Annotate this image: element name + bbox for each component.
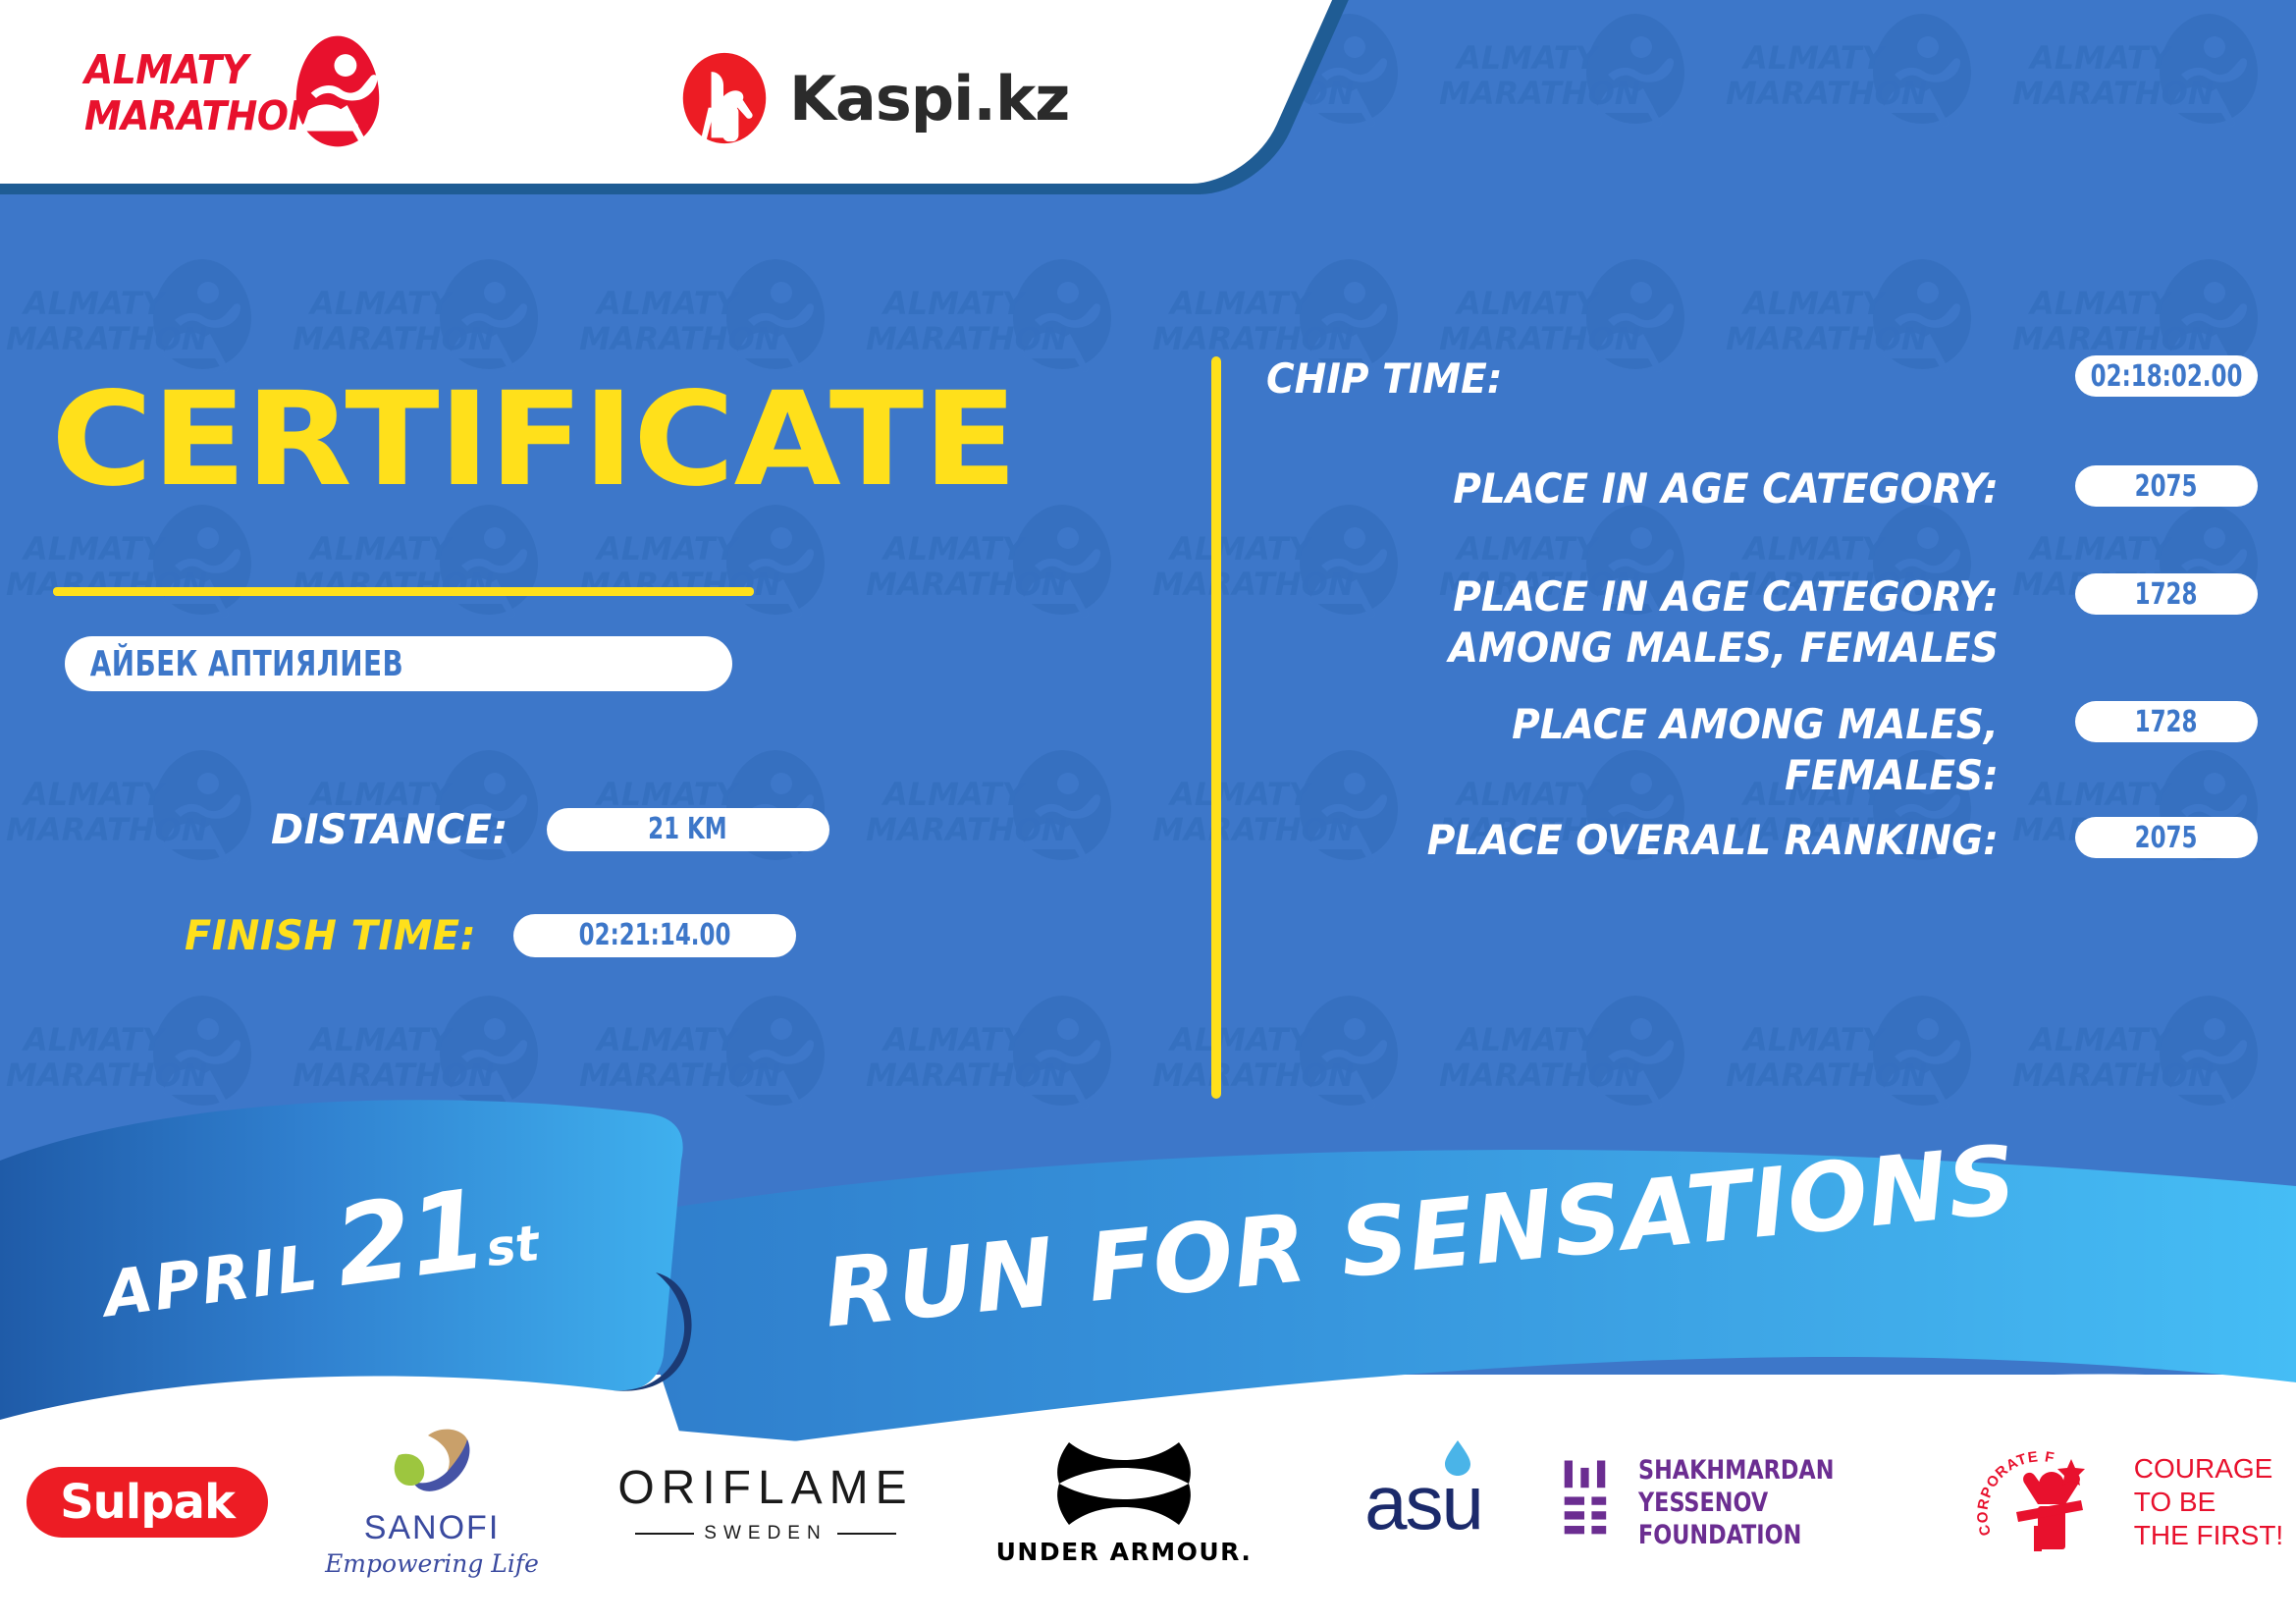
sponsor-logo-oriflame: ORIFLAME SWEDEN [569, 1419, 962, 1586]
oriflame-sub: SWEDEN [617, 1523, 913, 1544]
stat-row-chip-time: CHIP TIME: 02:18:02.00 [1266, 353, 2258, 405]
place-age-category-among-value: 1728 [2135, 577, 2198, 612]
place-age-category-label: PLACE IN AGE CATEGORY: [1266, 463, 2018, 514]
sulpak-pill: Sulpak [27, 1467, 268, 1538]
ribbon-day: 21 [328, 1165, 493, 1312]
certificate-root: ALMATY MARATHON ALMATY MARATHON [0, 0, 2296, 1624]
finish-time-value: 02:21:14.00 [578, 918, 730, 952]
yessenov-block: SHAKHMARDAN YESSENOV FOUNDATION [1561, 1454, 1973, 1551]
oriflame-rule-right [837, 1533, 896, 1535]
under-armour-mark-icon [1045, 1438, 1202, 1529]
asu-droplet-icon [1443, 1440, 1472, 1476]
place-age-category-among-label: PLACE IN AGE CATEGORY: AMONG MALES, FEMA… [1266, 571, 2018, 674]
courage-wordmark: COURAGE TO BE THE FIRST! [2134, 1452, 2283, 1552]
sanofi-tagline: Empowering Life [325, 1549, 539, 1578]
oriflame-rule-left [635, 1533, 694, 1535]
oriflame-block: ORIFLAME SWEDEN [617, 1461, 913, 1544]
chip-time-value: 02:18:02.00 [2091, 359, 2243, 394]
distance-value-pill: 21 KM [547, 808, 829, 851]
sponsor-logo-asu: asu [1286, 1419, 1561, 1586]
sponsor-logo-courage-to-be-the-first: CORPORATE FUND COURAGE TO BE THE FIRST! [1973, 1419, 2287, 1586]
sanofi-wordmark: SANOFI [325, 1509, 539, 1547]
stat-row-place-overall-ranking: PLACE OVERALL RANKING: 2075 [1266, 815, 2258, 866]
place-among-males-females-value: 1728 [2135, 705, 2198, 739]
sponsor-bar: Sulpak SANOFI Empowering Life ORIFLAME [0, 1404, 2296, 1600]
courage-mark-icon: CORPORATE FUND [1977, 1443, 2124, 1561]
finish-time-row: FINISH TIME: 02:21:14.00 [185, 911, 796, 959]
distance-value: 21 KM [648, 812, 727, 846]
place-overall-ranking-value-pill: 2075 [2075, 817, 2258, 858]
sanofi-mark-icon [385, 1428, 479, 1500]
place-among-males-females-value-pill: 1728 [2075, 701, 2258, 742]
place-among-males-females-label: PLACE AMONG MALES, FEMALES: [1266, 699, 2018, 801]
finish-time-value-pill: 02:21:14.00 [513, 914, 796, 957]
place-age-category-value: 2075 [2135, 469, 2198, 504]
place-age-category-among-value-pill: 1728 [2075, 573, 2258, 615]
under-armour-wordmark: UNDER ARMOUR. [996, 1538, 1253, 1566]
asu-block: asu [1364, 1458, 1482, 1547]
place-overall-ranking-value: 2075 [2135, 821, 2198, 855]
sponsor-logo-sanofi: SANOFI Empowering Life [294, 1419, 569, 1586]
place-overall-ranking-label: PLACE OVERALL RANKING: [1266, 815, 2018, 866]
ribbon-month: APRIL [99, 1231, 323, 1331]
oriflame-wordmark: ORIFLAME [617, 1461, 913, 1515]
sponsor-logo-sulpak: Sulpak [0, 1419, 294, 1586]
sulpak-wordmark: Sulpak [60, 1475, 235, 1530]
courage-block: CORPORATE FUND COURAGE TO BE THE FIRST! [1977, 1443, 2283, 1561]
sponsor-logo-under-armour: UNDER ARMOUR. [962, 1419, 1286, 1586]
chip-time-value-pill: 02:18:02.00 [2075, 355, 2258, 397]
ribbon-day-suffix: st [483, 1215, 543, 1278]
vertical-divider [1211, 356, 1221, 1099]
title-underline [53, 587, 754, 596]
stats-column: CHIP TIME: 02:18:02.00 PLACE IN AGE CATE… [1266, 353, 2258, 1100]
certificate-title: CERTIFICATE [51, 375, 1017, 505]
stat-row-place-among-males-females: PLACE AMONG MALES, FEMALES: 1728 [1266, 699, 2258, 801]
oriflame-tagline: SWEDEN [704, 1523, 827, 1544]
yessenov-mark-icon [1561, 1455, 1617, 1549]
chip-time-label: CHIP TIME: [1266, 353, 2018, 405]
under-armour-block: UNDER ARMOUR. [996, 1438, 1253, 1566]
finish-time-label: FINISH TIME: [185, 911, 476, 959]
participant-name-value: АЙБЕК АПТИЯЛИЕВ [65, 644, 403, 684]
yessenov-wordmark: SHAKHMARDAN YESSENOV FOUNDATION [1638, 1454, 1946, 1551]
sponsor-logo-yessenov-foundation: SHAKHMARDAN YESSENOV FOUNDATION [1561, 1419, 1973, 1586]
stat-row-place-age-category: PLACE IN AGE CATEGORY: 2075 [1266, 463, 2258, 514]
distance-label: DISTANCE: [271, 805, 508, 853]
distance-row: DISTANCE: 21 KM [271, 805, 829, 853]
place-age-category-value-pill: 2075 [2075, 465, 2258, 507]
participant-name-field: АЙБЕК АПТИЯЛИЕВ [65, 636, 732, 691]
stat-row-place-age-category-among: PLACE IN AGE CATEGORY: AMONG MALES, FEMA… [1266, 571, 2258, 674]
sanofi-block: SANOFI Empowering Life [325, 1428, 539, 1578]
left-column: CERTIFICATE АЙБЕК АПТИЯЛИЕВ DISTANCE: 21… [0, 0, 1178, 1178]
